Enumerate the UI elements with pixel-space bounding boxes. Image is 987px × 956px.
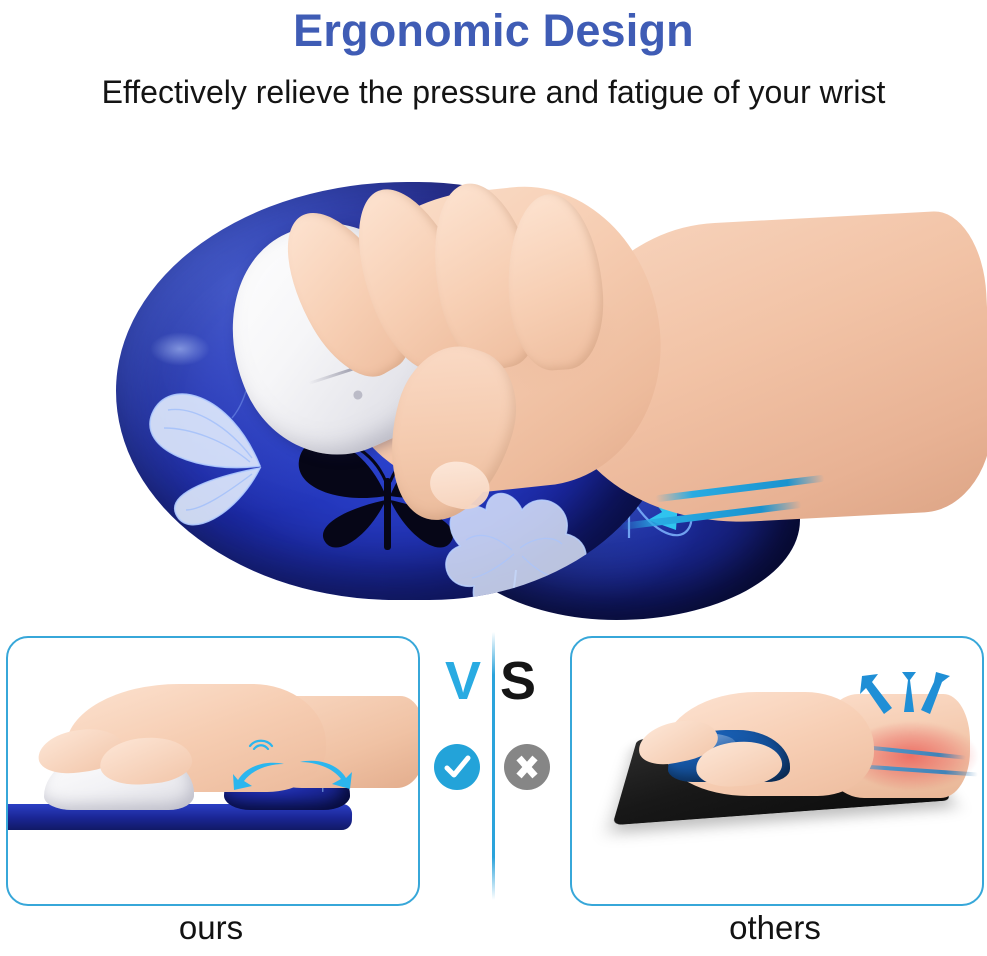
caption-ours: ours bbox=[6, 906, 416, 950]
vs-letter-s: S bbox=[500, 650, 536, 712]
comparison-panel-ours bbox=[6, 636, 420, 906]
page-title: Ergonomic Design bbox=[0, 2, 987, 60]
hero-product-image bbox=[0, 160, 987, 622]
product-infographic: Ergonomic Design Effectively relieve the… bbox=[0, 0, 987, 956]
check-badge bbox=[434, 744, 480, 790]
vs-divider-line bbox=[492, 632, 495, 900]
comparison-panel-others bbox=[570, 636, 984, 906]
ours-support-arrow-right-icon bbox=[298, 756, 354, 797]
ours-support-arrow-left-icon bbox=[232, 758, 286, 797]
caption-others: others bbox=[570, 906, 980, 950]
specular-highlight bbox=[150, 332, 210, 366]
mouse-scroll-dot bbox=[352, 389, 364, 401]
x-mark-icon bbox=[512, 752, 542, 782]
vs-letter-v: V bbox=[445, 650, 481, 712]
x-badge bbox=[504, 744, 550, 790]
ours-comfort-wave-icon bbox=[246, 734, 276, 755]
pressure-arrows-icon bbox=[858, 672, 954, 749]
page-subtitle: Effectively relieve the pressure and fat… bbox=[60, 70, 927, 115]
check-mark-icon bbox=[442, 752, 472, 782]
